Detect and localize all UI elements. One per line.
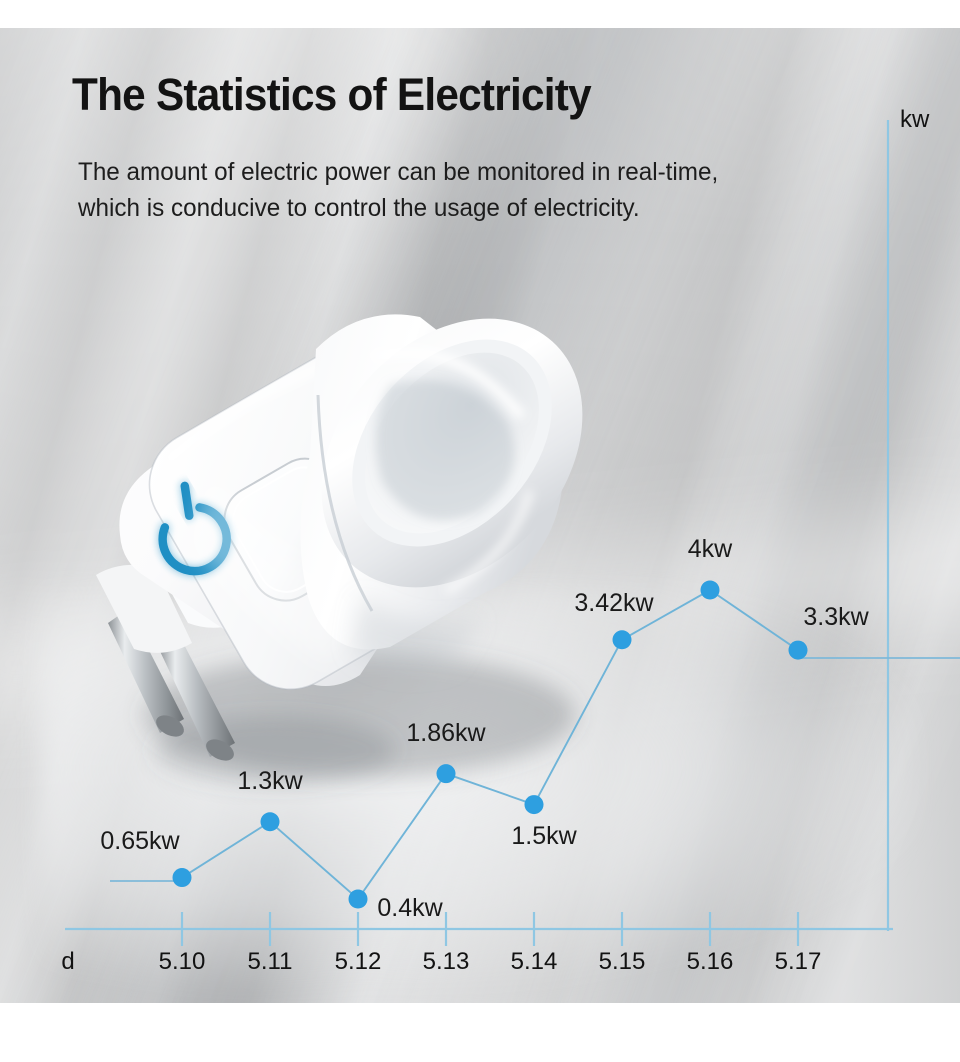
data-point-label: 0.4kw bbox=[377, 894, 442, 923]
data-point-label: 3.3kw bbox=[803, 603, 868, 632]
y-axis-label: kw bbox=[900, 106, 929, 134]
x-axis-tick-label: 5.16 bbox=[687, 948, 734, 976]
x-axis-tick-label: 5.10 bbox=[159, 948, 206, 976]
data-point-label: 4kw bbox=[688, 535, 732, 564]
data-point-label: 1.86kw bbox=[406, 719, 485, 748]
data-point-label: 0.65kw bbox=[100, 827, 179, 856]
data-point-label: 1.3kw bbox=[237, 767, 302, 796]
smart-plug-image bbox=[60, 245, 660, 805]
x-axis-tick-label: 5.17 bbox=[775, 948, 822, 976]
x-axis-tick-label: 5.13 bbox=[423, 948, 470, 976]
page-title: The Statistics of Electricity bbox=[72, 72, 591, 117]
data-point-label: 3.42kw bbox=[574, 589, 653, 618]
x-axis-origin-label: d bbox=[61, 948, 74, 976]
x-axis-tick-label: 5.14 bbox=[511, 948, 558, 976]
x-axis-tick-label: 5.12 bbox=[335, 948, 382, 976]
x-axis-tick-label: 5.15 bbox=[599, 948, 646, 976]
x-axis-tick-label: 5.11 bbox=[248, 948, 293, 976]
product-infographic-page: The Statistics of Electricity The amount… bbox=[0, 0, 960, 1062]
data-point-label: 1.5kw bbox=[511, 822, 576, 851]
page-subtitle: The amount of electric power can be moni… bbox=[78, 155, 718, 226]
